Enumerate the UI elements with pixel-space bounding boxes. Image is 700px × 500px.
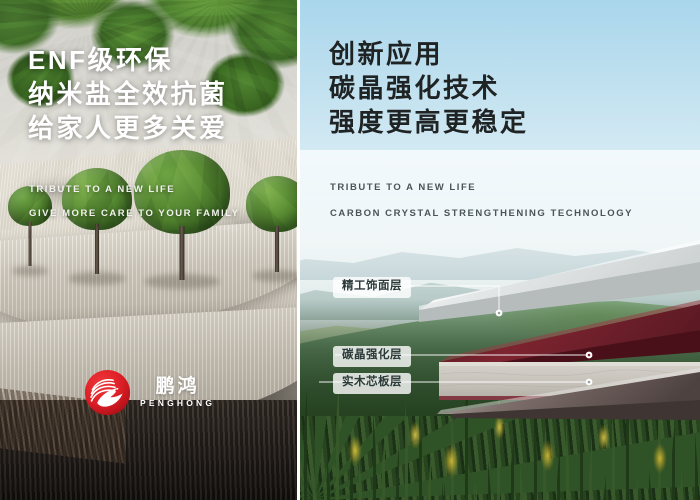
brand-logo: 鹏鸿 PENGHONG — [84, 369, 215, 416]
callout-carbon-crystal-layer: 碳晶强化层 — [333, 346, 411, 367]
left-headline-line-2: 纳米盐全效抗菌 — [28, 78, 228, 112]
right-technology-panel: 创新应用 碳晶强化技术 强度更高更稳定 TRIBUTE TO A NEW LIF… — [299, 0, 700, 500]
callout-top-veneer-layer: 精工饰面层 — [333, 277, 411, 298]
callout-solid-wood-core-layer: 实木芯板层 — [333, 373, 411, 394]
brand-name-en: PENGHONG — [140, 398, 215, 408]
callout-carbon-crystal-label: 碳晶强化层 — [342, 350, 402, 362]
left-eco-panel: ENF级环保 纳米盐全效抗菌 给家人更多关爱 TRIBUTE TO A NEW … — [0, 0, 299, 500]
phoenix-bird-icon — [84, 369, 131, 416]
left-headline-line-3: 给家人更多关爱 — [28, 112, 228, 146]
left-subtitle-line-2: GIVE MORE CARE TO YOUR FAMILY — [29, 209, 240, 219]
left-subtitle-line-1: TRIBUTE TO A NEW LIFE — [29, 185, 240, 195]
right-headline: 创新应用 碳晶强化技术 强度更高更稳定 — [329, 38, 529, 139]
right-subtitle-line-2: CARBON CRYSTAL STRENGTHENING TECHNOLOGY — [330, 209, 633, 219]
right-headline-line-1: 创新应用 — [329, 38, 529, 72]
right-headline-line-3: 强度更高更稳定 — [329, 106, 529, 140]
callout-solid-wood-core-label: 实木芯板层 — [342, 377, 402, 389]
right-subtitle: TRIBUTE TO A NEW LIFE CARBON CRYSTAL STR… — [330, 183, 633, 234]
left-headline: ENF级环保 纳米盐全效抗菌 给家人更多关爱 — [28, 44, 228, 145]
panel-divider — [297, 0, 300, 500]
right-subtitle-line-1: TRIBUTE TO A NEW LIFE — [330, 183, 633, 193]
callout-top-veneer-label: 精工饰面层 — [342, 281, 402, 293]
left-subtitle: TRIBUTE TO A NEW LIFE GIVE MORE CARE TO … — [29, 185, 240, 232]
brand-logo-text: 鹏鸿 PENGHONG — [140, 377, 215, 409]
right-headline-line-2: 碳晶强化技术 — [329, 72, 529, 106]
brand-name-cn: 鹏鸿 — [156, 377, 200, 397]
poster-root: ENF级环保 纳米盐全效抗菌 给家人更多关爱 TRIBUTE TO A NEW … — [0, 0, 700, 500]
left-headline-line-1: ENF级环保 — [28, 44, 228, 78]
